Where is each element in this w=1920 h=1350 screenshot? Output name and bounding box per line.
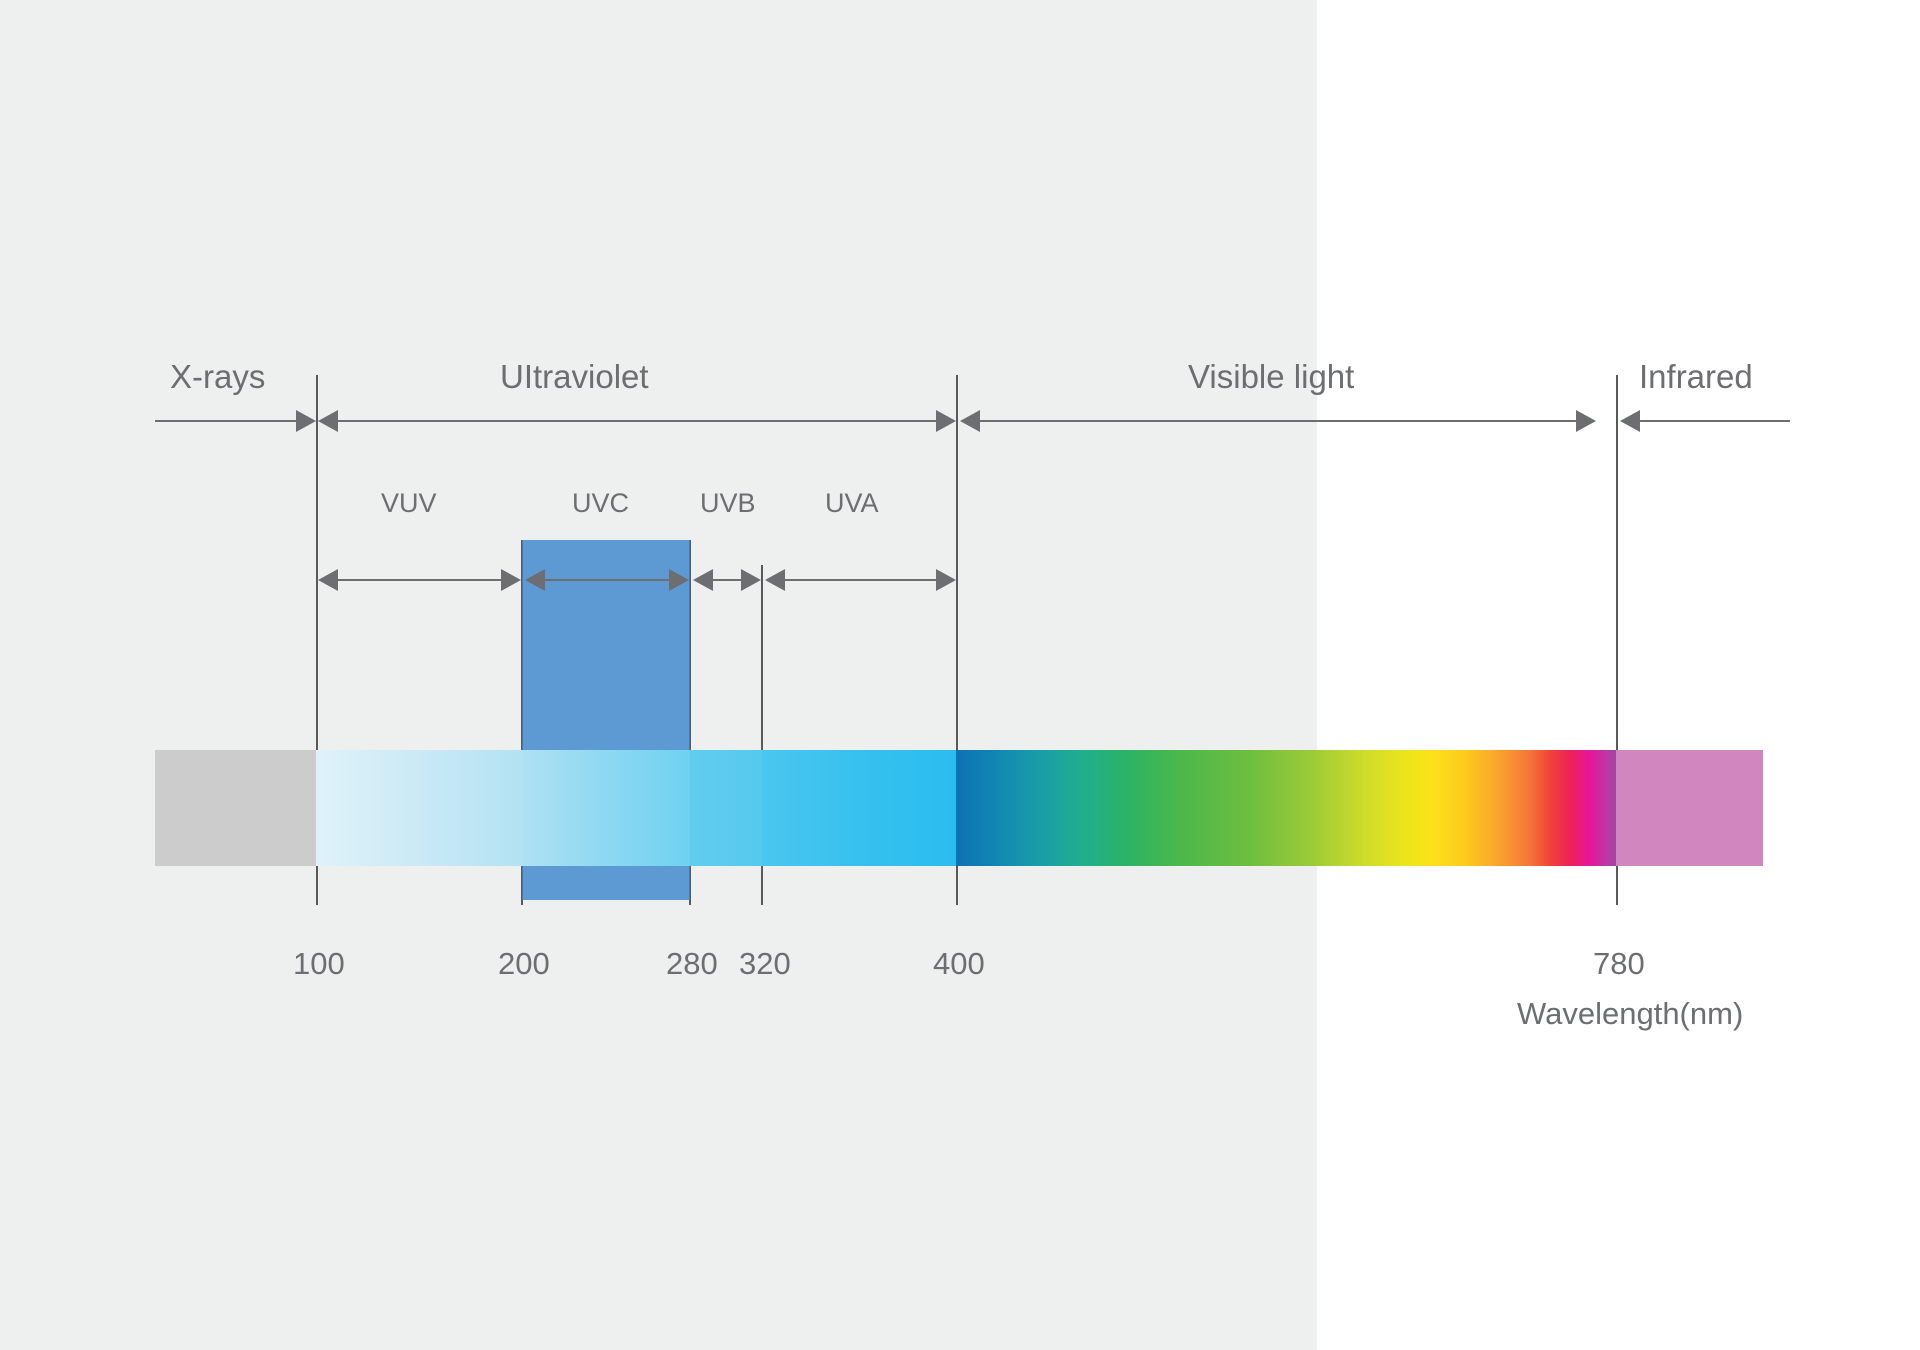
- spectrum-segment-uva: [762, 750, 956, 866]
- arrow-line-infrared: [1638, 420, 1790, 422]
- arrow-line-ultraviolet: [336, 420, 936, 422]
- band-label-x-rays: X-rays: [170, 360, 265, 393]
- arrow-head-uvb-right: [741, 569, 761, 591]
- arrow-head-uvc-right: [669, 569, 689, 591]
- subband-label-uvb: UVB: [700, 490, 756, 517]
- band-label-infrared: Infrared: [1639, 360, 1753, 393]
- spectrum-segment-vuv: [316, 750, 522, 866]
- arrow-head-visible-left: [960, 410, 980, 432]
- spectrum-figure: X-rays UItraviolet Visible light Infrare…: [0, 0, 1920, 1350]
- arrow-head-ultraviolet-left: [318, 410, 338, 432]
- arrow-line-vuv: [336, 579, 501, 581]
- arrow-line-uva: [783, 579, 938, 581]
- tick-label-200: 200: [498, 948, 550, 979]
- axis-label-wavelength: Wavelength(nm): [1517, 998, 1743, 1029]
- tick-label-100: 100: [293, 948, 345, 979]
- arrow-head-x-rays-right: [296, 410, 316, 432]
- subband-label-uva: UVA: [825, 490, 879, 517]
- arrow-line-uvb: [711, 579, 743, 581]
- arrow-head-uva-left: [765, 569, 785, 591]
- tick-label-280: 280: [666, 948, 718, 979]
- arrow-head-vuv-left: [318, 569, 338, 591]
- spectrum-segment-uvb: [690, 750, 762, 866]
- subband-label-uvc: UVC: [572, 490, 629, 517]
- arrow-head-vuv-right: [501, 569, 521, 591]
- arrow-line-x-rays: [155, 420, 296, 422]
- spectrum-segment-visible: [956, 750, 1616, 866]
- arrow-head-uva-right: [936, 569, 956, 591]
- band-label-ultraviolet: UItraviolet: [500, 360, 649, 393]
- spectrum-segment-xrays: [155, 750, 316, 866]
- arrow-head-infrared-left: [1620, 410, 1640, 432]
- spectrum-segment-infrared: [1616, 750, 1763, 866]
- arrow-head-uvb-left: [693, 569, 713, 591]
- arrow-head-ultraviolet-right: [936, 410, 956, 432]
- subband-label-vuv: VUV: [381, 490, 437, 517]
- tick-label-400: 400: [933, 948, 985, 979]
- band-label-visible-light: Visible light: [1188, 360, 1354, 393]
- spectrum-segment-uvc: [522, 750, 690, 866]
- background-panel-right: [1317, 0, 1920, 1350]
- tick-label-780: 780: [1593, 948, 1645, 979]
- arrow-line-visible-light: [978, 420, 1576, 422]
- spectrum-bar: [155, 750, 1763, 866]
- arrow-line-uvc: [543, 579, 671, 581]
- arrow-head-uvc-left: [525, 569, 545, 591]
- tick-label-320: 320: [739, 948, 791, 979]
- arrow-head-visible-right: [1576, 410, 1596, 432]
